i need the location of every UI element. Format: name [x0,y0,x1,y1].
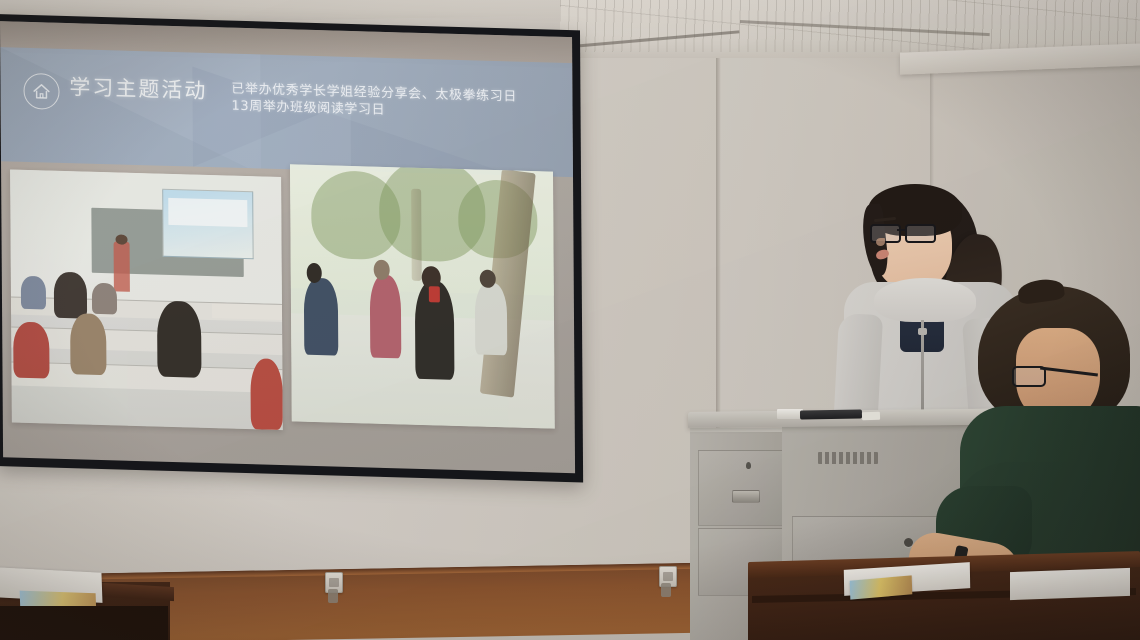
wall-outlet-left-plug [328,589,338,603]
classroom-sharing-session-photo [10,170,283,431]
projection-screen: 学习主题活动 已举办优秀学长学姐经验分享会、太极拳练习日 13周举办班级阅读学习… [0,14,583,482]
podium-drawer-handle[interactable] [732,490,760,503]
classroom-scene: 学习主题活动 已举办优秀学长学姐经验分享会、太极拳练习日 13周举办班级阅读学习… [0,0,1140,640]
slide-title: 学习主题活动 [69,76,207,102]
chalk-box[interactable] [862,412,880,421]
handout-sheet-right-2[interactable] [1010,568,1130,600]
taichi-practice-photo [290,164,555,429]
podium-brand-label [818,452,878,464]
remote-control[interactable] [800,409,862,419]
screen-surface: 学习主题活动 已举办优秀学长学姐经验分享会、太极拳练习日 13周举办班级阅读学习… [0,21,575,473]
presenter-zipper-pull [918,328,927,335]
home-icon [23,73,59,110]
glasses-icon [870,224,934,239]
student-glasses-icon [1012,366,1072,384]
wall-outlet-right-plug [661,583,671,597]
projected-slide: 学习主题活动 已举办优秀学长学姐经验分享会、太极拳练习日 13周举办班级阅读学习… [0,21,575,473]
student-desk-left-body [0,606,168,640]
podium-drawer-upper[interactable] [698,450,792,526]
podium-keyhole [746,462,751,469]
presenter-nose [876,238,885,246]
